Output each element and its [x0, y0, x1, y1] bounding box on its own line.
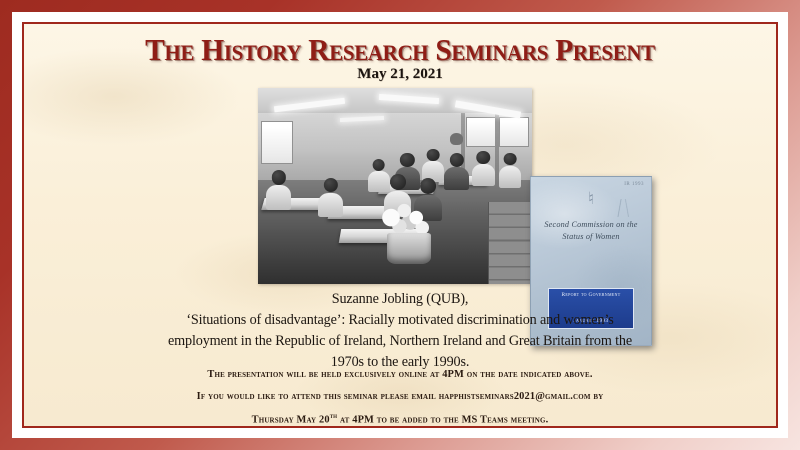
- photo-ceiling-light: [378, 94, 439, 104]
- photo-seated-person: [472, 151, 495, 186]
- talk-title-line1: ‘Situations of disadvantage’: Racially m…: [60, 310, 740, 331]
- speaker-block: Suzanne Jobling (QUB), ‘Situations of di…: [60, 289, 740, 373]
- footer-deadline-post: at 4PM to be added to the MS Teams meeti…: [337, 414, 548, 425]
- footer-line-online: The presentation will be held exclusivel…: [54, 364, 746, 386]
- harp-emblem-icon: ♮: [531, 190, 651, 207]
- report-cover-title-line2: Status of Women: [562, 232, 619, 241]
- slide-canvas: The History Research Seminars Present Ma…: [24, 24, 776, 426]
- report-cover-title: Second Commission on the Status of Women: [539, 219, 643, 244]
- photo-seated-person: [318, 178, 343, 217]
- photo-ceiling-fan: [450, 133, 464, 145]
- photo-cabinet: [488, 202, 532, 284]
- footer-details: The presentation will be held exclusivel…: [54, 364, 746, 426]
- photo-window: [466, 117, 495, 146]
- photo-equipment: [387, 233, 431, 264]
- seminar-date: May 21, 2021: [24, 66, 776, 83]
- report-cover-stamp: IR 1993: [624, 182, 644, 187]
- presentation-slide: The History Research Seminars Present Ma…: [0, 0, 800, 450]
- footer-line-deadline: Thursday May 20th at 4PM to be added to …: [54, 409, 746, 426]
- photo-ceiling-light: [274, 97, 345, 112]
- footer-line-email: If you would like to attend this seminar…: [54, 386, 746, 408]
- slide-title: The History Research Seminars Present: [43, 32, 757, 68]
- photo-seated-person: [422, 149, 444, 182]
- report-cover-title-line1: Second Commission on the: [544, 220, 637, 229]
- photo-seated-person: [499, 153, 521, 188]
- classroom-photo: [258, 88, 532, 284]
- speaker-name: Suzanne Jobling (QUB),: [60, 289, 740, 310]
- footer-deadline-pre: Thursday May 20: [252, 414, 330, 425]
- photo-seated-person: [266, 170, 291, 209]
- photo-window: [499, 117, 528, 146]
- photo-window: [261, 121, 293, 164]
- photo-seated-person: [444, 153, 469, 190]
- seminar-image: IR 1993 ♮ Second Commission on the Statu…: [258, 88, 532, 284]
- talk-title-line2: employment in the Republic of Ireland, N…: [60, 331, 740, 352]
